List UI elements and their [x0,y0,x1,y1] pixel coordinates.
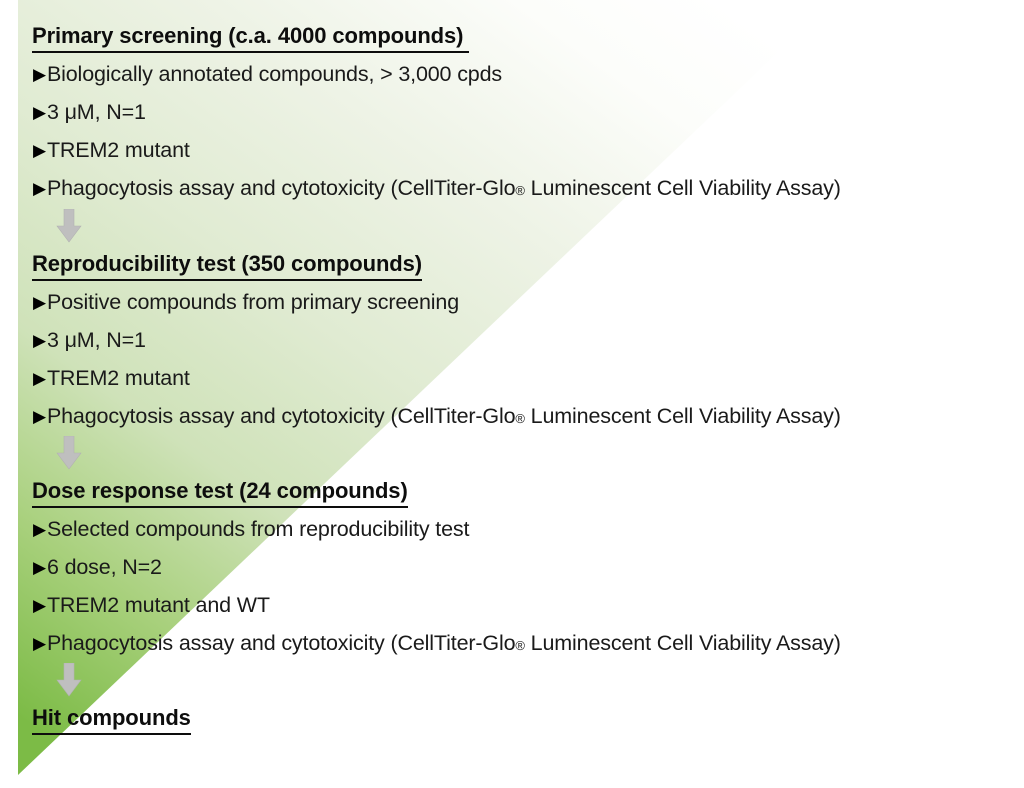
bullet-item: ▶ Positive compounds from primary screen… [33,289,459,317]
bullet-label: Selected compounds from reproducibility … [47,516,469,542]
bullet-item: ▶ 3 μM, N=1 [33,99,146,127]
bullet-item: ▶ 3 μM, N=1 [33,327,146,355]
section-heading-hit-compounds: Hit compounds [32,704,191,735]
bullet-label: 6 dose, N=2 [47,554,162,580]
heading-text: Dose response test (24 compounds) [32,477,408,508]
bullet-item: ▶ Phagocytosis assay and cytotoxicity (C… [33,175,841,203]
triangle-bullet-icon: ▶ [33,290,46,316]
section-heading-reproducibility-test: Reproducibility test (350 compounds) [32,250,422,281]
bullet-label-part1: Phagocytosis assay and cytotoxicity (Cel… [47,175,515,201]
heading-text: Hit compounds [32,704,191,735]
triangle-bullet-icon: ▶ [33,366,46,392]
bullet-item: ▶ Biologically annotated compounds, > 3,… [33,61,502,89]
bullet-label: TREM2 mutant and WT [47,592,270,618]
figure-canvas: Primary screening (c.a. 4000 compounds) … [0,0,1024,788]
bullet-label: TREM2 mutant [47,365,190,391]
triangle-bullet-icon: ▶ [33,631,46,657]
bullet-label-part2: Luminescent Cell Viability Assay) [525,403,841,429]
triangle-bullet-icon: ▶ [33,517,46,543]
bullet-label-part1: Phagocytosis assay and cytotoxicity (Cel… [47,630,515,656]
bullet-item: ▶ Selected compounds from reproducibilit… [33,516,469,544]
down-arrow-connector-3 [56,663,82,697]
triangle-bullet-icon: ▶ [33,404,46,430]
triangle-bullet-icon: ▶ [33,138,46,164]
bullet-item: ▶ Phagocytosis assay and cytotoxicity (C… [33,630,841,658]
triangle-bullet-icon: ▶ [33,555,46,581]
bullet-label: 3 μM, N=1 [47,99,146,125]
heading-text: Reproducibility test (350 compounds) [32,250,422,281]
bullet-item: ▶ TREM2 mutant [33,137,190,165]
triangle-bullet-icon: ▶ [33,593,46,619]
triangle-bullet-icon: ▶ [33,62,46,88]
bullet-item: ▶ Phagocytosis assay and cytotoxicity (C… [33,403,841,431]
bullet-item: ▶ TREM2 mutant and WT [33,592,270,620]
bullet-label: Positive compounds from primary screenin… [47,289,459,315]
heading-text: Primary screening (c.a. 4000 compounds) [32,22,469,53]
bullet-label: 3 μM, N=1 [47,327,146,353]
bullet-item: ▶ TREM2 mutant [33,365,190,393]
down-arrow-connector-1 [56,209,82,243]
bullet-label: TREM2 mutant [47,137,190,163]
triangle-bullet-icon: ▶ [33,328,46,354]
bullet-item: ▶ 6 dose, N=2 [33,554,162,582]
down-arrow-connector-2 [56,436,82,470]
bullet-label-part2: Luminescent Cell Viability Assay) [525,175,841,201]
triangle-bullet-icon: ▶ [33,100,46,126]
bullet-label: Biologically annotated compounds, > 3,00… [47,61,502,87]
triangle-bullet-icon: ▶ [33,176,46,202]
section-heading-dose-response-test: Dose response test (24 compounds) [32,477,408,508]
bullet-label-part2: Luminescent Cell Viability Assay) [525,630,841,656]
section-heading-primary-screening: Primary screening (c.a. 4000 compounds) [32,22,469,53]
bullet-label-part1: Phagocytosis assay and cytotoxicity (Cel… [47,403,515,429]
